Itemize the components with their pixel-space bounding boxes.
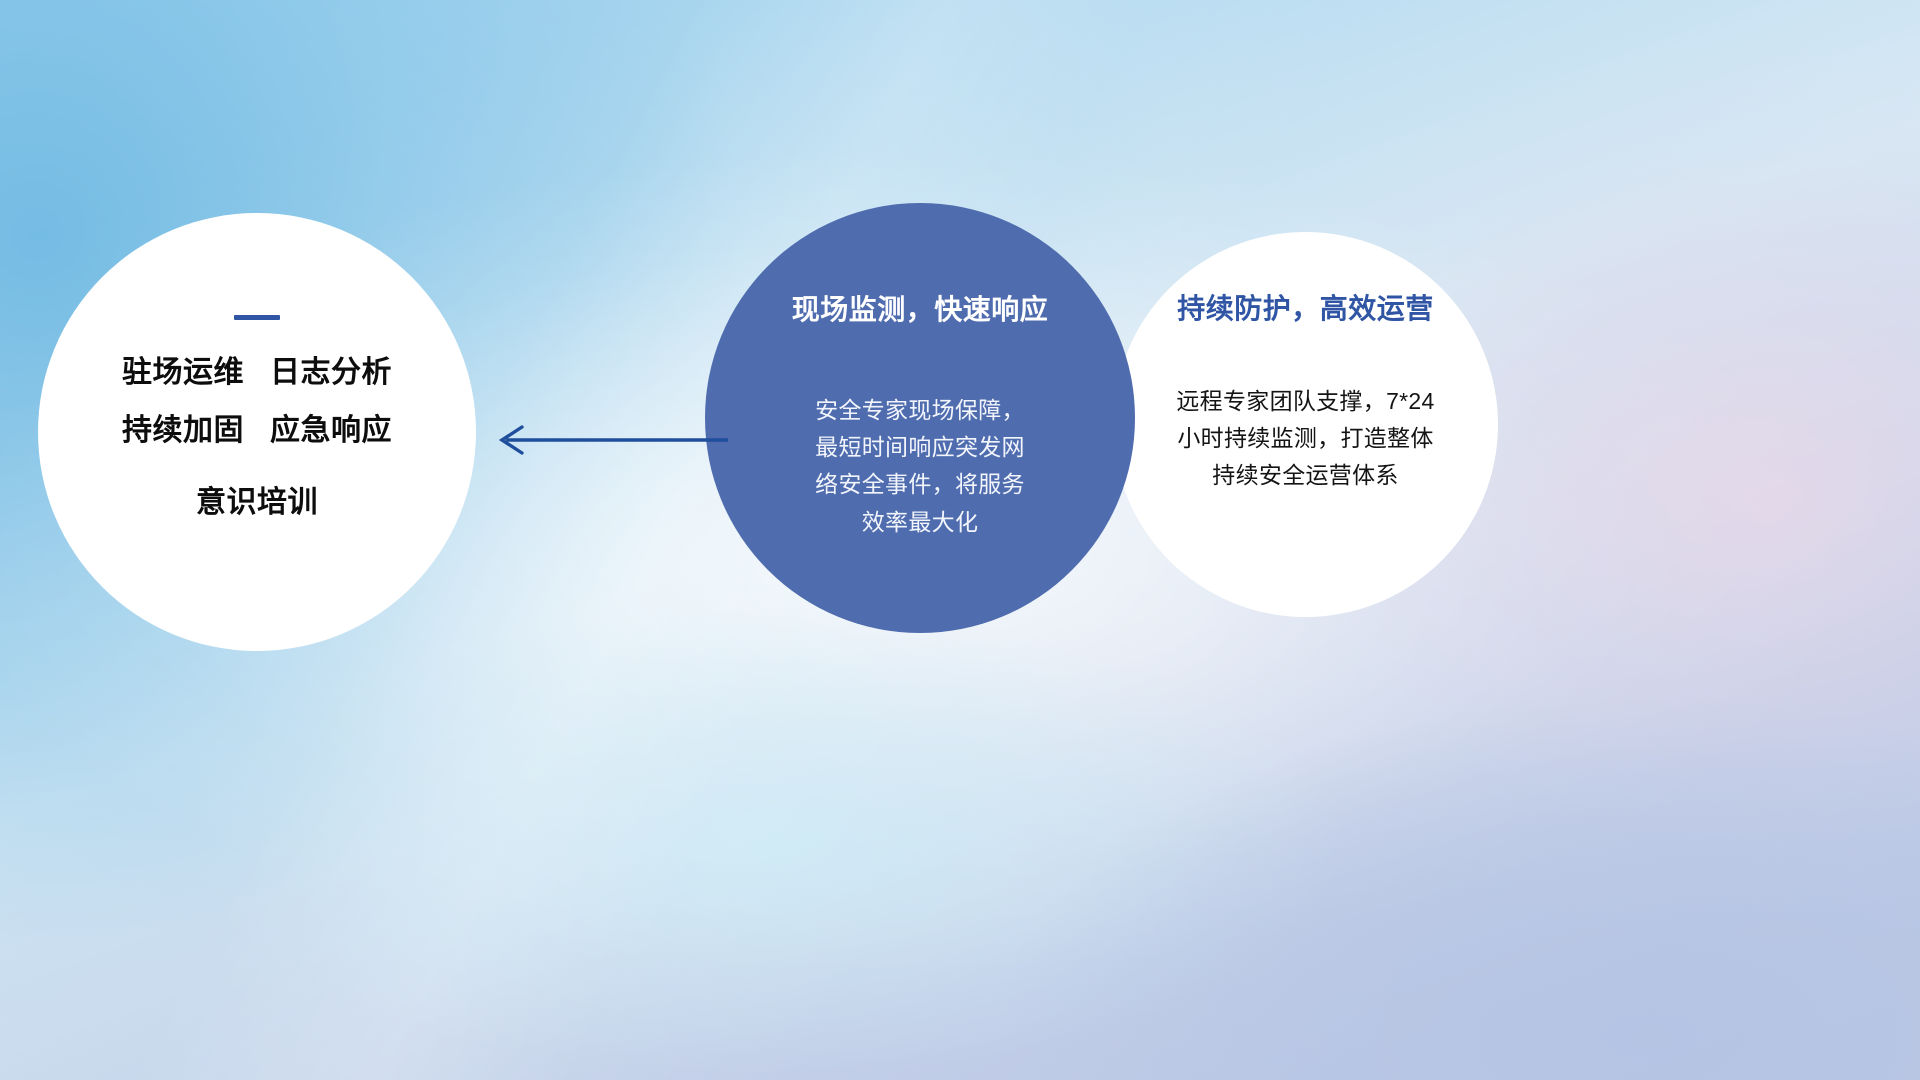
capability-tag: 驻场运维 — [122, 356, 244, 389]
arrow-left-icon — [480, 412, 730, 468]
capability-tag: 意识培训 — [196, 486, 318, 519]
continuous-defense-body: 远程专家团队支撑，7*24 小时持续监测，打造整体 持续安全运营体系 — [1135, 383, 1476, 495]
body-line: 效率最大化 — [753, 504, 1087, 541]
body-line: 远程专家团队支撑，7*24 — [1135, 383, 1476, 420]
body-line: 最短时间响应突发网 — [753, 429, 1087, 466]
capability-row-3: 意识培训 — [196, 488, 318, 518]
field-monitoring-title: 现场监测，快速响应 — [739, 295, 1101, 326]
divider-dash — [234, 315, 280, 320]
body-line: 小时持续监测，打造整体 — [1135, 420, 1476, 457]
continuous-defense-title: 持续防护，高效运营 — [1135, 294, 1476, 325]
capability-tag: 应急响应 — [270, 414, 392, 447]
body-line: 安全专家现场保障， — [753, 392, 1087, 429]
capability-tag: 日志分析 — [270, 356, 392, 389]
body-line: 络安全事件，将服务 — [753, 466, 1087, 503]
capability-tag: 持续加固 — [122, 414, 244, 447]
capabilities-content: 驻场运维日志分析 持续加固应急响应 意识培训 — [38, 213, 476, 651]
body-line: 持续安全运营体系 — [1135, 457, 1476, 494]
field-monitoring-body: 安全专家现场保障， 最短时间响应突发网 络安全事件，将服务 效率最大化 — [739, 392, 1101, 541]
capability-row-1: 驻场运维日志分析 — [122, 358, 392, 388]
continuous-defense-content: 持续防护，高效运营 远程专家团队支撑，7*24 小时持续监测，打造整体 持续安全… — [1113, 232, 1498, 617]
capability-row-2: 持续加固应急响应 — [122, 416, 392, 446]
slide-canvas: 驻场运维日志分析 持续加固应急响应 意识培训 现场监测，快速响应 安全专家现场保… — [0, 0, 1920, 1080]
field-monitoring-content: 现场监测，快速响应 安全专家现场保障， 最短时间响应突发网 络安全事件，将服务 … — [705, 203, 1135, 633]
